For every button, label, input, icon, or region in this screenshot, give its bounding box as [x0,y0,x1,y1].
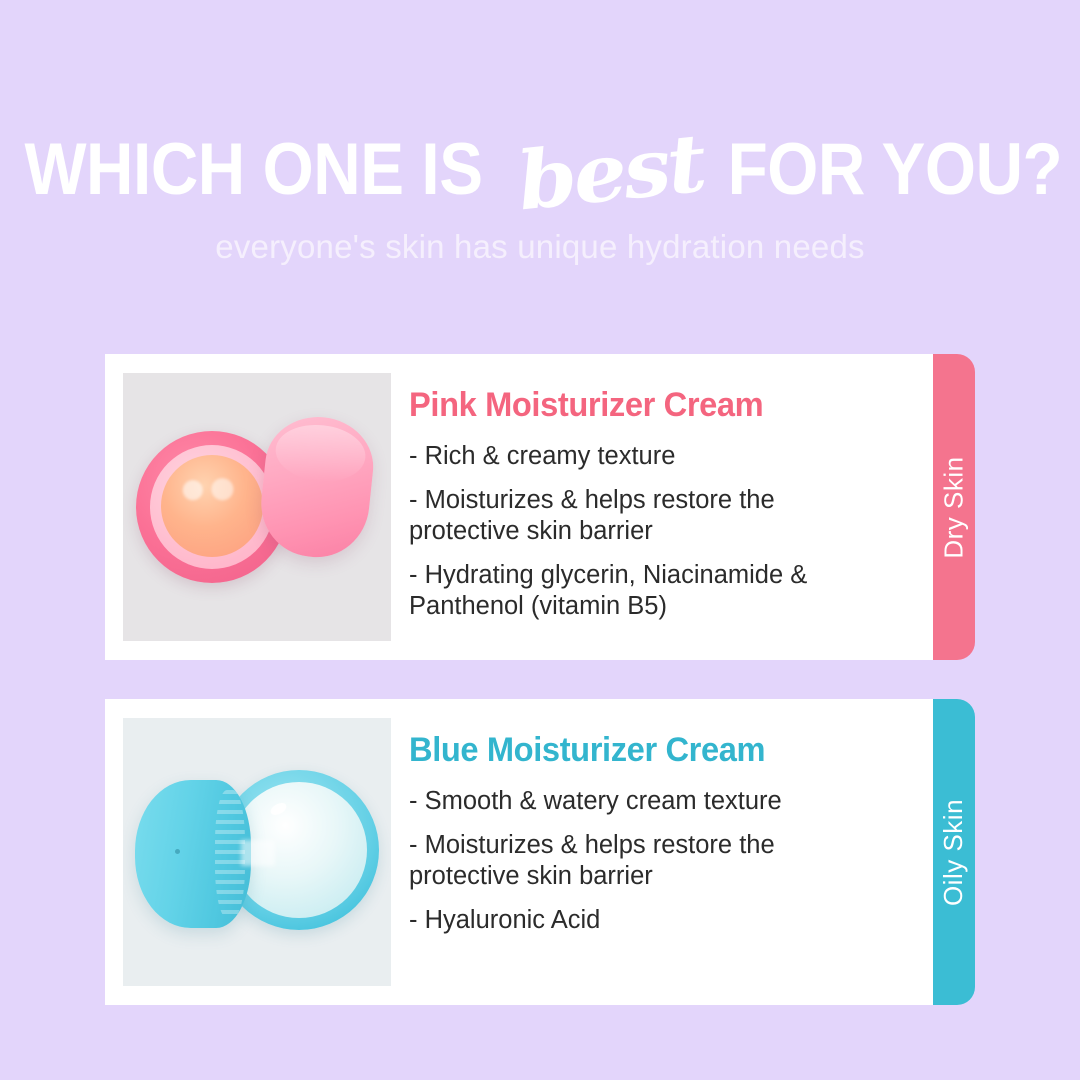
product-bullet: - Hyaluronic Acid [409,905,879,936]
pink-cream-swirl-shape [172,469,252,515]
blue-jar-neck-shape [241,840,275,866]
pink-jar-lid-shape [256,412,378,563]
product-bullet: - Smooth & watery cream texture [409,786,879,817]
product-row-blue: Oily Skin Blue Moisturizer Cream - Smoot… [105,699,975,1005]
skin-type-tab-dry[interactable]: Dry Skin [933,354,975,660]
skin-type-tab-oily[interactable]: Oily Skin [933,699,975,1005]
product-title-blue: Blue Moisturizer Cream [409,731,885,770]
skin-type-tab-label: Oily Skin [939,798,970,905]
product-card-pink[interactable]: Pink Moisturizer Cream - Rich & creamy t… [105,354,933,660]
product-bullet: - Rich & creamy texture [409,441,879,472]
product-card-blue[interactable]: Blue Moisturizer Cream - Smooth & watery… [105,699,933,1005]
skin-type-tab-label: Dry Skin [939,456,970,558]
product-list: Dry Skin Pink Moisturizer Cream - Rich &… [105,354,975,1044]
page-subtitle: everyone's skin has unique hydration nee… [0,228,1080,266]
product-title-pink: Pink Moisturizer Cream [409,386,885,425]
title-part-two: FOR YOU? [728,133,1063,206]
product-image-blue [123,718,391,986]
product-row-pink: Dry Skin Pink Moisturizer Cream - Rich &… [105,354,975,660]
blue-jar-lid-shape [135,780,251,928]
header: WHICH ONE IS best FOR YOU? everyone's sk… [0,0,1080,266]
page-title: WHICH ONE IS best FOR YOU? [0,126,1080,206]
product-bullet: - Moisturizes & helps restore the protec… [409,830,879,892]
blue-lid-center-dot [175,849,180,854]
product-image-pink [123,373,391,641]
product-info-pink: Pink Moisturizer Cream - Rich & creamy t… [391,364,933,636]
product-info-blue: Blue Moisturizer Cream - Smooth & watery… [391,709,933,949]
title-part-one: WHICH ONE IS [25,133,483,206]
product-bullet: - Hydrating glycerin, Niacinamide & Pant… [409,560,879,622]
title-script-word: best [514,123,707,222]
product-bullet: - Moisturizes & helps restore the protec… [409,485,879,547]
